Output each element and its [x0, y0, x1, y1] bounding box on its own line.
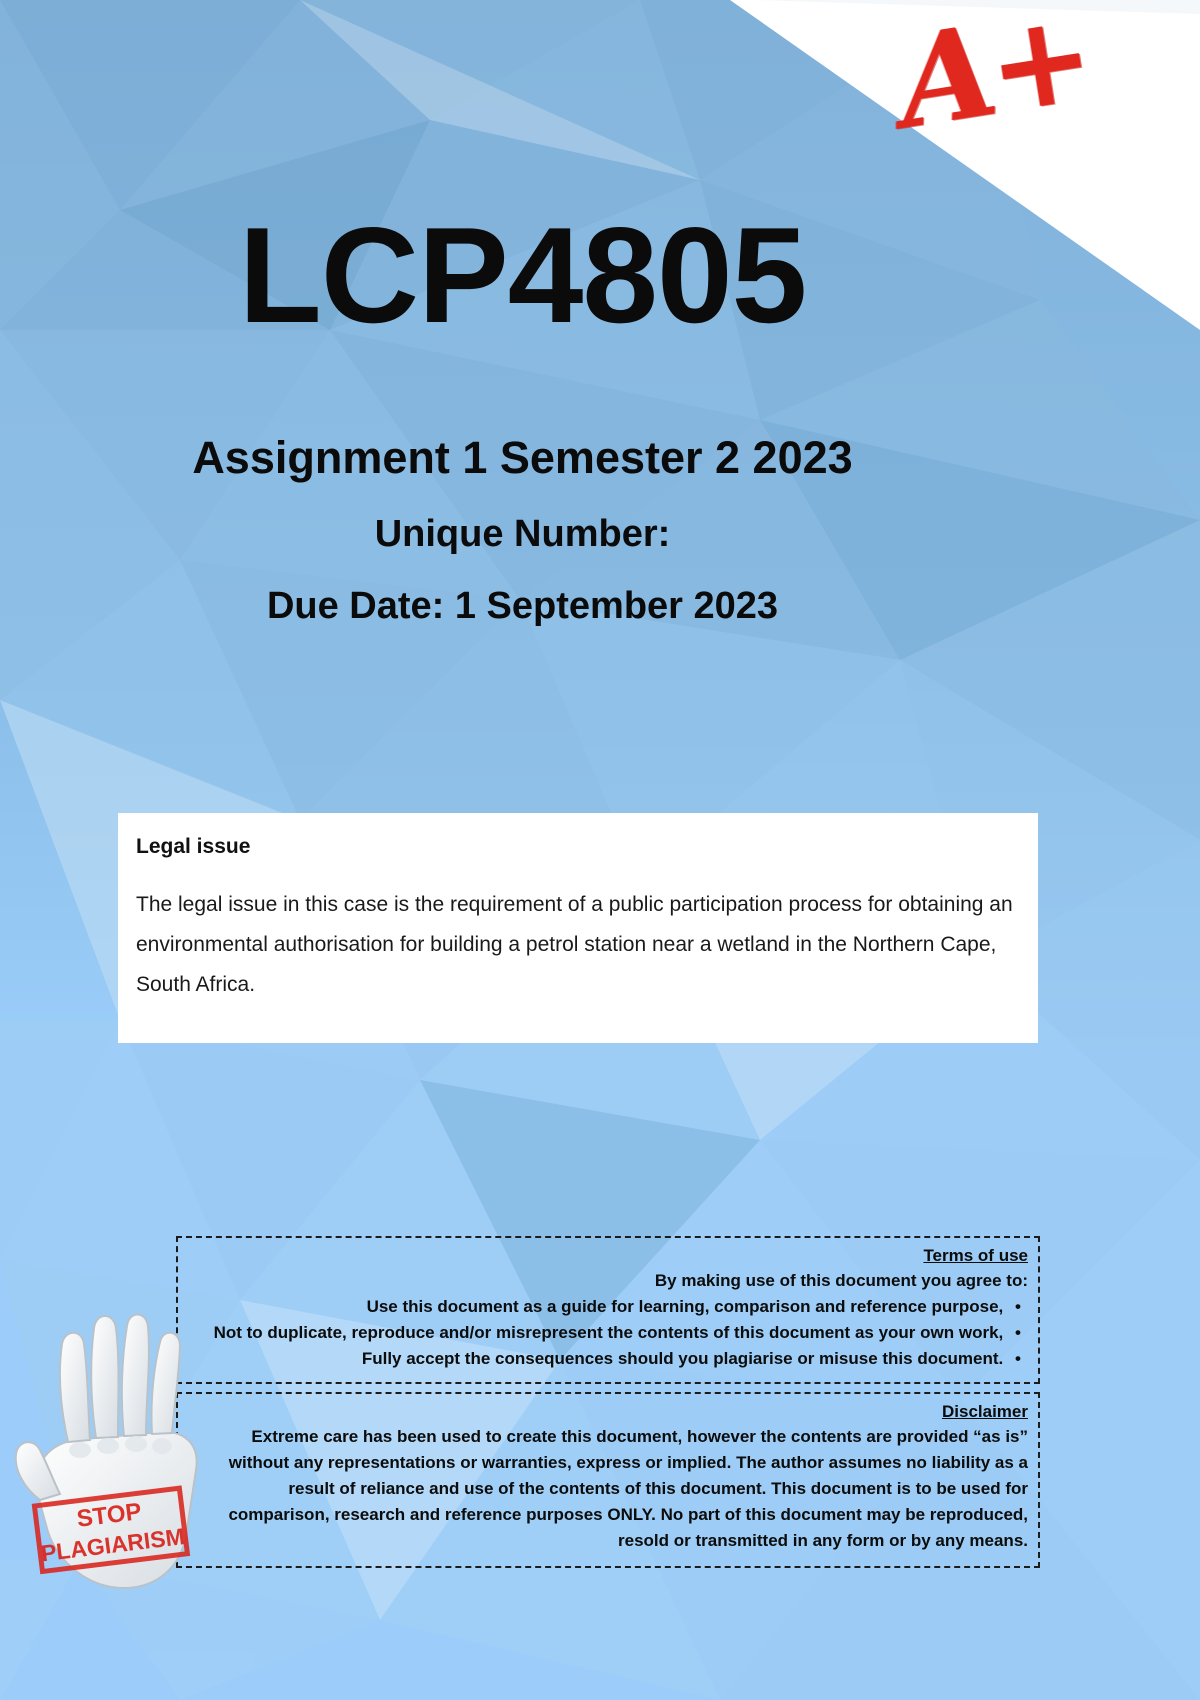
- assignment-subtitle: Assignment 1 Semester 2 2023: [0, 432, 1045, 484]
- terms-of-use-intro: By making use of this document you agree…: [184, 1268, 1028, 1293]
- disclaimer-box: Disclaimer Extreme care has been used to…: [176, 1392, 1040, 1568]
- page-title: LCP4805: [0, 207, 1045, 343]
- unique-number-label: Unique Number:: [0, 513, 1045, 556]
- bullet-icon: •: [1008, 1294, 1028, 1320]
- due-date-label: Due Date: 1 September 2023: [0, 585, 1045, 628]
- stop-plagiarism-graphic: STOP PLAGIARISM: [10, 1300, 225, 1630]
- bullet-icon: •: [1008, 1320, 1028, 1346]
- list-item: Not to duplicate, reproduce and/or misre…: [184, 1320, 1032, 1346]
- terms-item-text: Use this document as a guide for learnin…: [367, 1297, 1004, 1316]
- list-item: Use this document as a guide for learnin…: [184, 1294, 1032, 1320]
- bullet-icon: •: [1008, 1346, 1028, 1372]
- a-plus-logo-icon: A+: [890, 0, 1097, 147]
- terms-of-use-heading: Terms of use: [184, 1246, 1028, 1266]
- list-item: Fully accept the consequences should you…: [184, 1346, 1032, 1372]
- terms-item-text: Not to duplicate, reproduce and/or misre…: [214, 1323, 1004, 1342]
- disclaimer-heading: Disclaimer: [184, 1402, 1028, 1422]
- legal-issue-heading: Legal issue: [136, 835, 1016, 859]
- legal-issue-paragraph: The legal issue in this case is the requ…: [136, 885, 1016, 1005]
- terms-item-text: Fully accept the consequences should you…: [362, 1349, 1003, 1368]
- terms-of-use-list: Use this document as a guide for learnin…: [184, 1294, 1032, 1372]
- disclaimer-body: Extreme care has been used to create thi…: [188, 1424, 1028, 1554]
- legal-issue-card: Legal issue The legal issue in this case…: [118, 813, 1038, 1043]
- terms-of-use-box: Terms of use By making use of this docum…: [176, 1236, 1040, 1384]
